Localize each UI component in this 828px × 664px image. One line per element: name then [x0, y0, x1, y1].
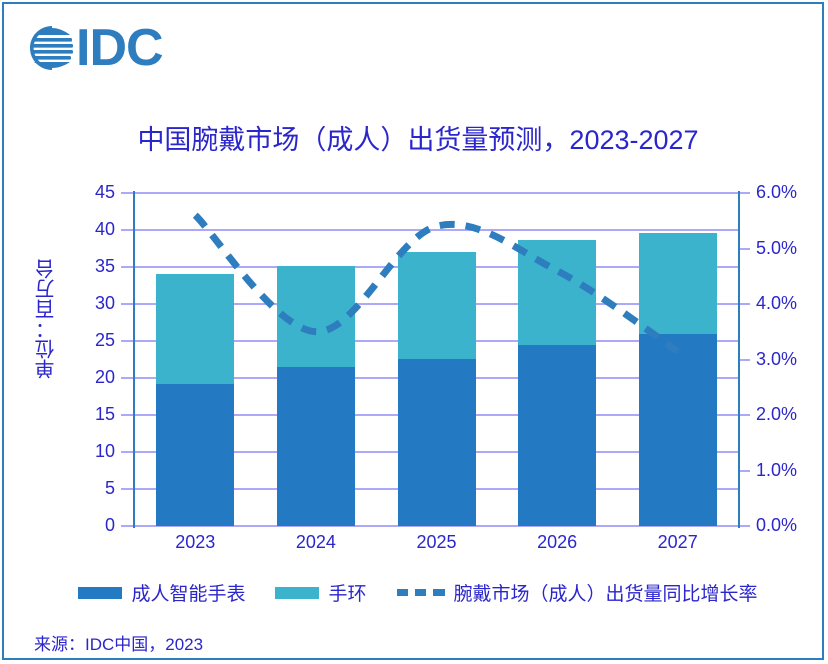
y-tick-label-right: 2.0%	[756, 404, 826, 425]
y-tick-right	[740, 192, 750, 194]
y-tick-left	[121, 266, 133, 268]
x-axis-label: 2024	[256, 532, 376, 553]
y-tick-label-left: 10	[73, 441, 115, 462]
legend-item[interactable]: 腕戴市场（成人）出货量同比增长率	[397, 579, 758, 606]
idc-wordmark: IDC	[76, 26, 163, 70]
y-tick-label-left: 30	[73, 293, 115, 314]
legend-label: 成人智能手表	[131, 579, 245, 606]
y-tick-label-left: 5	[73, 478, 115, 499]
y-tick-label-right: 6.0%	[756, 182, 826, 203]
y-tick-right	[740, 414, 750, 416]
y-tick-left	[121, 340, 133, 342]
chart-legend: 成人智能手表手环腕戴市场（成人）出货量同比增长率	[4, 579, 828, 606]
y-tick-label-right: 5.0%	[756, 238, 826, 259]
source-note: 来源：IDC中国，2023	[34, 630, 203, 655]
page-title: 中国腕戴市场（成人）出货量预测，2023-2027	[4, 118, 828, 157]
y-tick-left	[121, 451, 133, 453]
y-tick-label-right: 4.0%	[756, 293, 826, 314]
globe-icon	[30, 26, 74, 70]
color-swatch-icon	[275, 587, 319, 599]
y-tick-label-right: 1.0%	[756, 460, 826, 481]
y-axis-left-title: 单位：百万台	[32, 259, 61, 379]
y-tick-right	[740, 525, 750, 527]
legend-item[interactable]: 手环	[275, 579, 366, 606]
y-tick-right	[740, 470, 750, 472]
x-axis-label: 2026	[497, 532, 617, 553]
y-tick-left	[121, 525, 133, 527]
x-axis-label: 2027	[618, 532, 738, 553]
plot-area	[135, 193, 738, 526]
legend-label: 腕戴市场（成人）出货量同比增长率	[454, 579, 758, 606]
y-tick-label-left: 15	[73, 404, 115, 425]
y-tick-right	[740, 303, 750, 305]
y-tick-right	[740, 248, 750, 250]
y-tick-label-left: 20	[73, 367, 115, 388]
color-swatch-icon	[78, 587, 122, 599]
y-tick-label-right: 3.0%	[756, 349, 826, 370]
y-tick-left	[121, 377, 133, 379]
y-tick-right	[740, 359, 750, 361]
growth-rate-line	[195, 215, 677, 351]
y-tick-left	[121, 192, 133, 194]
idc-logo: IDC	[30, 26, 163, 70]
chart-frame: IDC 中国腕戴市场（成人）出货量预测，2023-2027 单位：百万台 051…	[2, 2, 824, 660]
growth-line-layer	[135, 193, 738, 526]
y-tick-label-right: 0.0%	[756, 515, 826, 536]
dashed-line-icon	[397, 589, 445, 596]
y-tick-label-left: 25	[73, 330, 115, 351]
y-tick-left	[121, 229, 133, 231]
y-tick-label-left: 40	[73, 219, 115, 240]
y-tick-label-left: 45	[73, 182, 115, 203]
x-axis-label: 2025	[377, 532, 497, 553]
y-tick-left	[121, 488, 133, 490]
y-tick-label-left: 0	[73, 515, 115, 536]
y-tick-left	[121, 414, 133, 416]
y-tick-left	[121, 303, 133, 305]
x-axis-label: 2023	[135, 532, 255, 553]
y-tick-label-left: 35	[73, 256, 115, 277]
legend-item[interactable]: 成人智能手表	[78, 579, 245, 606]
legend-label: 手环	[328, 579, 366, 606]
